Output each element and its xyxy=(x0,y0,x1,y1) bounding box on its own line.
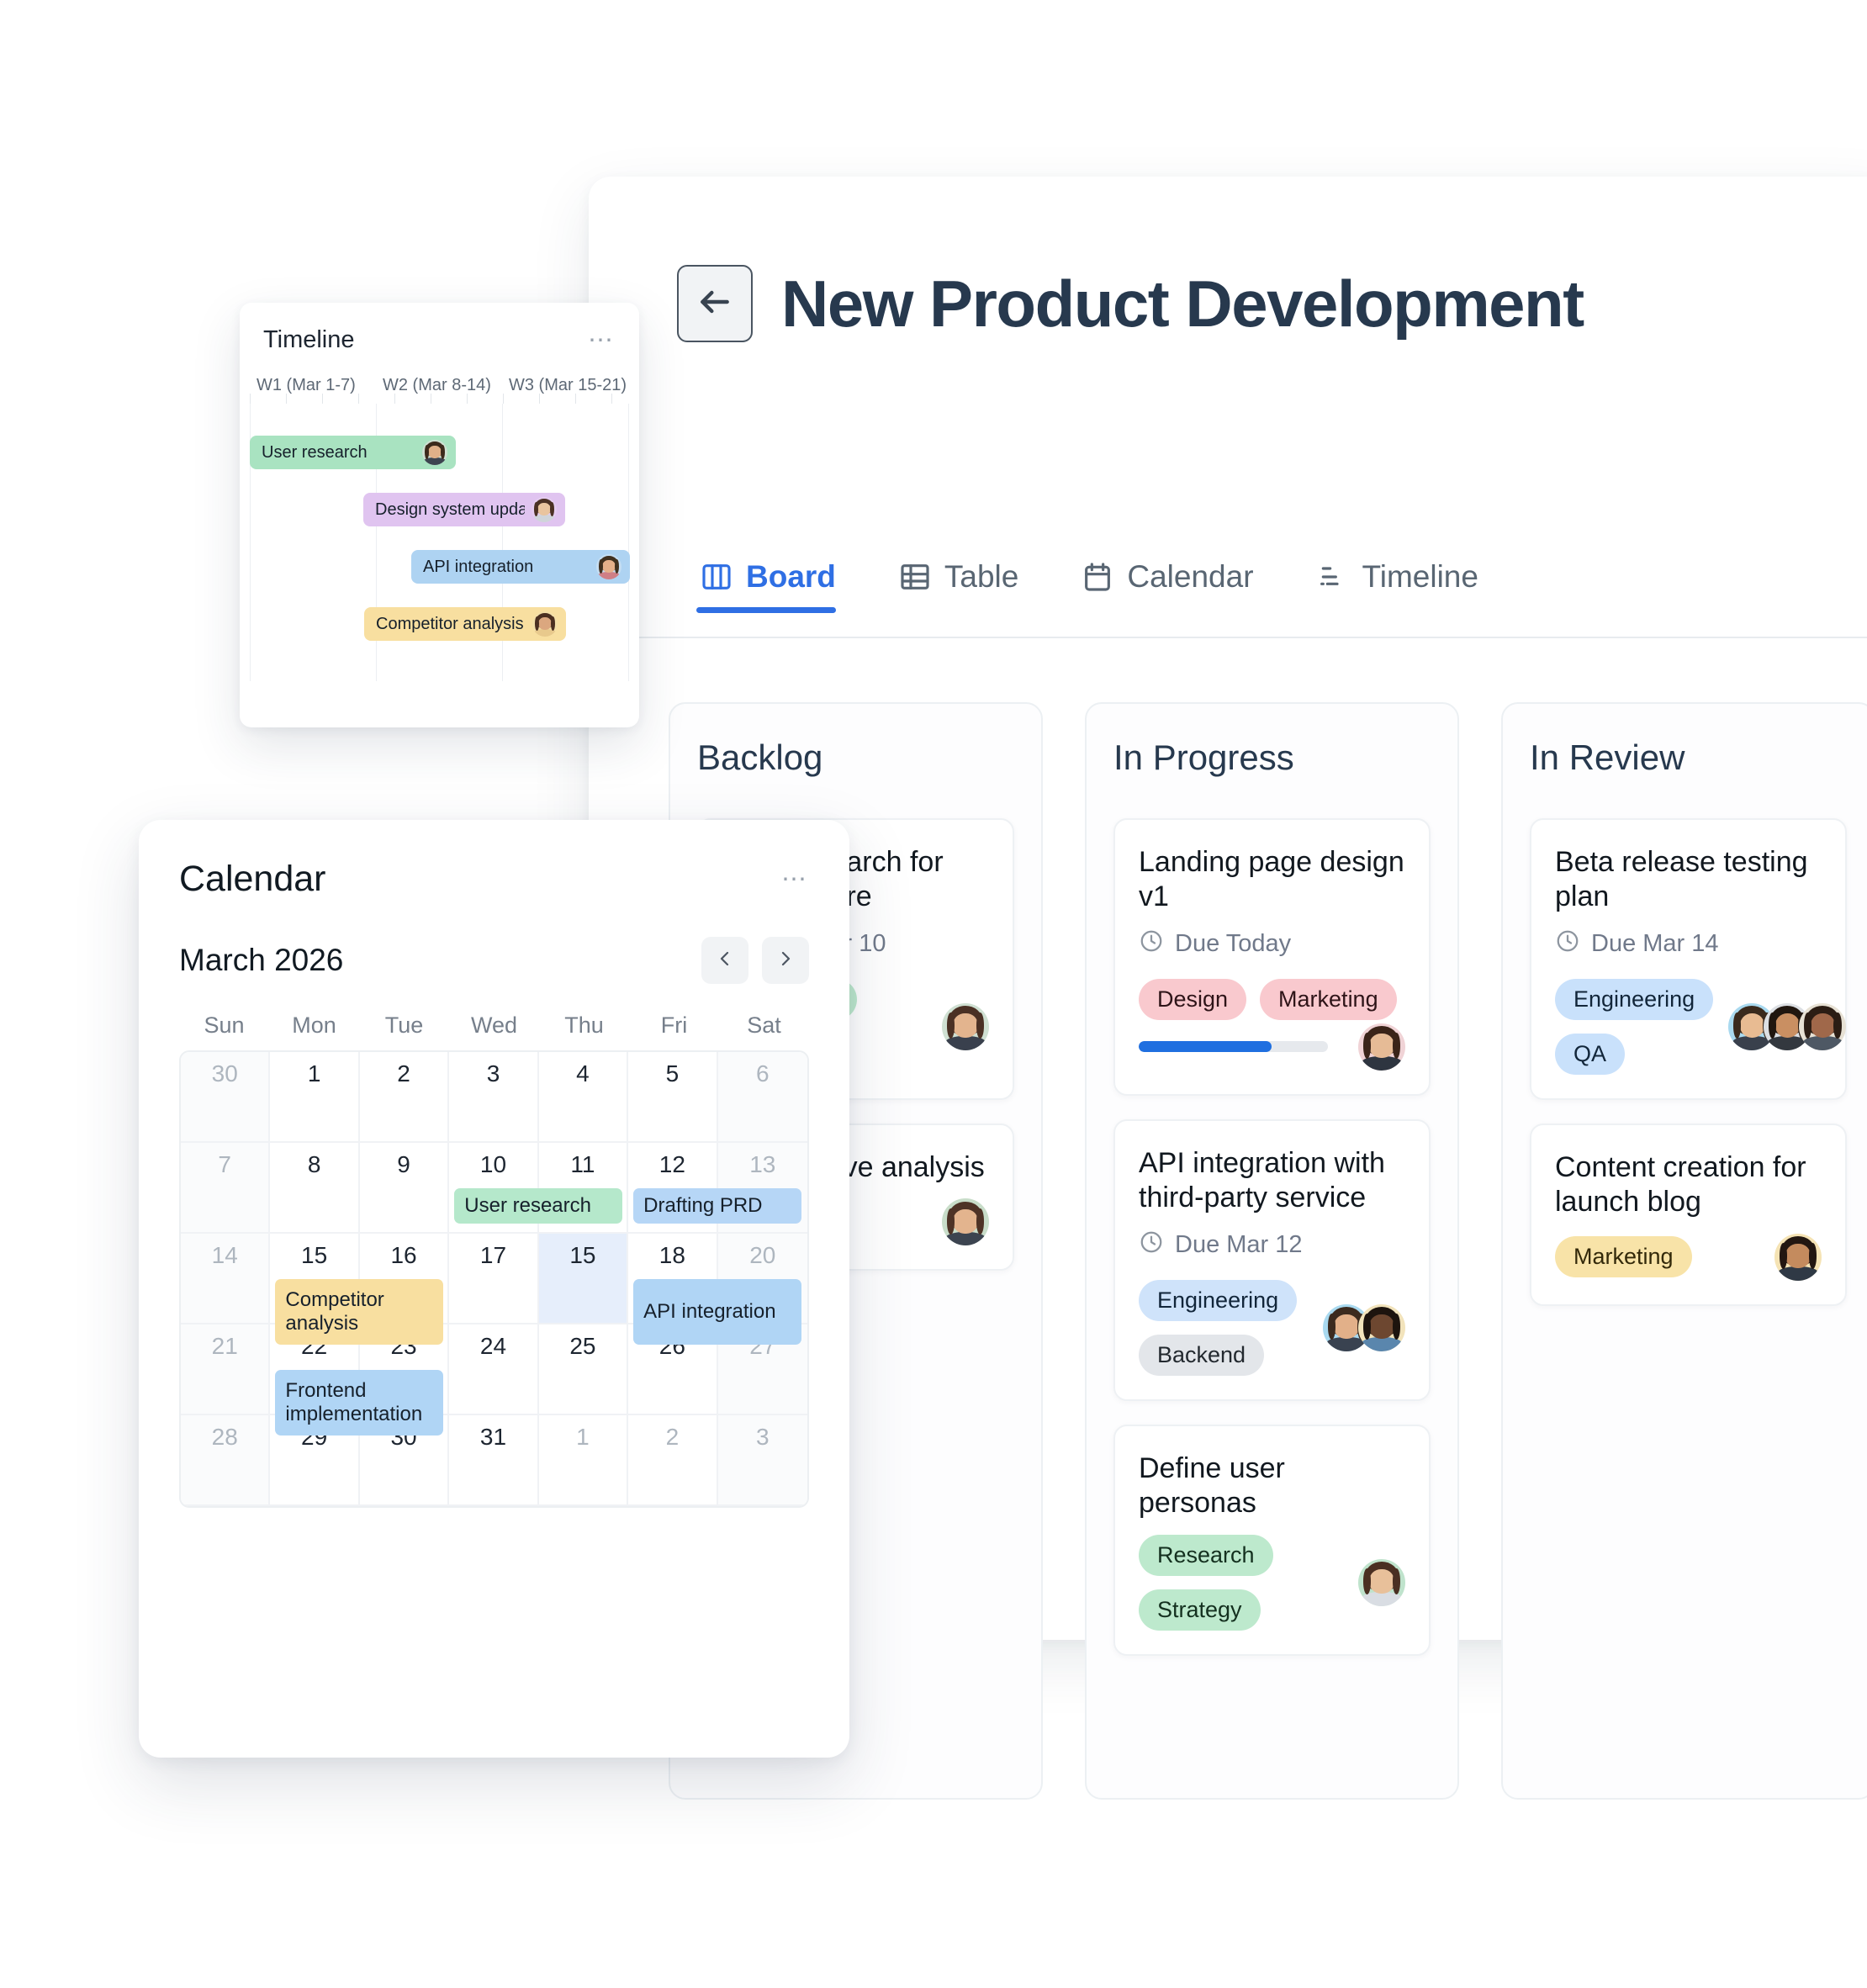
next-month-button[interactable] xyxy=(762,937,809,984)
view-tabs: Board Table Calendar Timeline xyxy=(696,559,1537,613)
calendar-day-cell[interactable]: 1 xyxy=(270,1052,359,1143)
calendar-day-cell[interactable]: 17 xyxy=(449,1234,538,1324)
tag[interactable]: Engineering xyxy=(1139,1280,1297,1321)
column-title: In Progress xyxy=(1113,738,1431,778)
calendar-day-cell[interactable]: 18API integration xyxy=(628,1234,717,1324)
weekday-label: Wed xyxy=(449,1013,539,1039)
timeline-bar-label: User research xyxy=(262,443,415,463)
day-number: 12 xyxy=(628,1151,716,1178)
card-due: Due Mar 12 xyxy=(1139,1229,1405,1261)
calendar-weekday-row: SunMonTueWedThuFriSat xyxy=(179,1013,809,1039)
calendar-day-cell[interactable]: 7 xyxy=(181,1143,270,1234)
calendar-day-cell[interactable]: 30 xyxy=(181,1052,270,1143)
screen: New Product Development Board Table Cale… xyxy=(0,0,1867,1988)
calendar-day-cell[interactable]: 3 xyxy=(718,1415,807,1506)
calendar-day-cell[interactable]: 8 xyxy=(270,1143,359,1234)
timeline-tick xyxy=(322,394,323,404)
day-number: 4 xyxy=(539,1060,627,1087)
tab-board[interactable]: Board xyxy=(696,559,863,613)
more-horizontal-icon[interactable]: ⋯ xyxy=(588,328,616,353)
tab-timeline[interactable]: Timeline xyxy=(1313,559,1505,613)
timeline-bar[interactable]: Competitor analysis xyxy=(364,607,566,641)
timeline-week-headers: W1 (Mar 1-7)W2 (Mar 8-14)W3 (Mar 15-21) xyxy=(240,376,639,395)
calendar-event[interactable]: Drafting PRD xyxy=(633,1188,801,1224)
day-number: 28 xyxy=(181,1424,268,1451)
card-due-label: Due Mar 12 xyxy=(1175,1231,1303,1259)
calendar-day-cell[interactable]: 12Drafting PRD xyxy=(628,1143,717,1234)
day-number: 24 xyxy=(449,1333,537,1360)
day-number: 20 xyxy=(718,1242,807,1269)
weekday-label: Tue xyxy=(359,1013,449,1039)
calendar-day-cell[interactable]: 2 xyxy=(628,1415,717,1506)
day-number: 1 xyxy=(270,1060,357,1087)
calendar-event[interactable]: API integration xyxy=(633,1279,801,1345)
board-header: New Product Development xyxy=(677,265,1584,342)
day-number: 14 xyxy=(181,1242,268,1269)
card-tags: ResearchStrategy xyxy=(1139,1535,1343,1631)
calendar-title: Calendar xyxy=(179,859,326,900)
calendar-grid: 30 1 2 3 4 5 6 7 8 9 10User research 11 … xyxy=(179,1050,809,1508)
clock-icon xyxy=(1555,928,1580,960)
column-title: Backlog xyxy=(697,738,1014,778)
timeline-week-label: W1 (Mar 1-7) xyxy=(250,376,376,395)
avatar xyxy=(532,611,558,637)
timeline-bar-label: Design system update xyxy=(375,500,525,520)
day-number: 7 xyxy=(181,1151,268,1178)
task-card[interactable]: Content creation for launch blog Marketi… xyxy=(1530,1124,1847,1306)
day-number: 3 xyxy=(718,1424,807,1451)
timeline-week-label: W2 (Mar 8-14) xyxy=(376,376,502,395)
task-card[interactable]: Beta release testing plan Due Mar 14 Eng… xyxy=(1530,818,1847,1100)
card-due: Due Mar 14 xyxy=(1555,928,1822,960)
back-button[interactable] xyxy=(677,265,753,342)
calendar-month-bar: March 2026 xyxy=(179,937,809,984)
weekday-label: Sun xyxy=(179,1013,269,1039)
task-card[interactable]: Define user personas ResearchStrategy xyxy=(1113,1425,1431,1656)
avatar xyxy=(942,1003,989,1050)
assignees[interactable] xyxy=(1323,1304,1405,1351)
card-tags: EngineeringQA xyxy=(1555,979,1713,1075)
day-number: 2 xyxy=(360,1060,447,1087)
avatar xyxy=(532,497,557,522)
chevron-right-icon xyxy=(775,949,796,973)
tag[interactable]: Engineering xyxy=(1555,979,1713,1020)
task-title: API integration with third-party service xyxy=(1139,1146,1405,1216)
day-number: 18 xyxy=(628,1242,716,1269)
day-number: 11 xyxy=(539,1151,627,1178)
task-title: Define user personas xyxy=(1139,1451,1405,1521)
card-tags: DesignMarketing xyxy=(1139,979,1405,1020)
tab-label: Board xyxy=(746,559,836,595)
calendar-day-cell[interactable]: 15 xyxy=(539,1234,628,1324)
calendar-day-cell[interactable]: 9 xyxy=(360,1143,449,1234)
table-icon xyxy=(898,560,932,594)
day-number: 15 xyxy=(270,1242,357,1269)
card-tags: EngineeringBackend xyxy=(1139,1280,1308,1376)
tab-label: Calendar xyxy=(1127,559,1253,595)
calendar-day-cell[interactable]: 10User research xyxy=(449,1143,538,1234)
card-footer: Marketing xyxy=(1555,1234,1822,1281)
day-number: 9 xyxy=(360,1151,447,1178)
day-number: 15 xyxy=(539,1242,627,1269)
card-due-label: Due Mar 14 xyxy=(1591,930,1719,958)
timeline-bar-label: API integration xyxy=(423,558,590,577)
calendar-month-label: March 2026 xyxy=(179,943,343,978)
day-number: 13 xyxy=(718,1151,807,1178)
avatar xyxy=(596,554,621,579)
calendar-day-cell[interactable]: 3 xyxy=(449,1052,538,1143)
timeline-tick xyxy=(611,394,612,404)
timeline-bar[interactable]: API integration xyxy=(411,550,630,584)
timeline-tick xyxy=(575,394,576,404)
calendar-day-cell[interactable]: 14 xyxy=(181,1234,270,1324)
timeline-header: Timeline ⋯ xyxy=(240,303,639,354)
day-number: 6 xyxy=(718,1060,807,1087)
card-due: Due Today xyxy=(1139,928,1405,960)
timeline-tick xyxy=(286,394,287,404)
day-number: 5 xyxy=(628,1060,716,1087)
task-card[interactable]: API integration with third-party service… xyxy=(1113,1119,1431,1401)
progress-bar xyxy=(1139,1041,1328,1052)
day-number: 2 xyxy=(628,1424,716,1451)
timeline-tick xyxy=(467,394,468,404)
card-footer: EngineeringBackend xyxy=(1139,1280,1405,1376)
avatar xyxy=(1799,1003,1846,1050)
calendar-day-cell[interactable]: 6 xyxy=(718,1052,807,1143)
tab-table[interactable]: Table xyxy=(895,559,1045,613)
timeline-tick xyxy=(250,394,251,404)
timeline-icon xyxy=(1316,560,1350,594)
tag[interactable]: Design xyxy=(1139,979,1246,1020)
card-footer xyxy=(1139,1023,1405,1071)
tag[interactable]: Backend xyxy=(1139,1335,1264,1376)
avatar xyxy=(942,1198,989,1245)
calendar-day-cell[interactable]: 1 xyxy=(539,1415,628,1506)
column-in-progress: In Progress Landing page design v1 Due T… xyxy=(1085,702,1459,1800)
weekday-label: Fri xyxy=(629,1013,719,1039)
tag[interactable]: Research xyxy=(1139,1535,1273,1576)
timeline-tick xyxy=(358,394,359,404)
calendar-header: Calendar ⋯ xyxy=(179,859,809,900)
card-tags: Marketing xyxy=(1555,1236,1759,1277)
day-number: 16 xyxy=(360,1242,447,1269)
avatar xyxy=(1358,1023,1405,1071)
timeline-gridline xyxy=(628,404,629,681)
card-due-label: Due Today xyxy=(1175,930,1291,958)
day-number: 8 xyxy=(270,1151,357,1178)
calendar-day-cell[interactable]: 28 xyxy=(181,1415,270,1506)
calendar-event[interactable]: Frontend implementation xyxy=(275,1370,443,1435)
day-number: 17 xyxy=(449,1242,537,1269)
avatar xyxy=(1358,1559,1405,1606)
calendar-day-cell[interactable]: 21 xyxy=(181,1324,270,1415)
timeline-tick xyxy=(539,394,540,404)
day-number: 3 xyxy=(449,1060,537,1087)
calendar-day-cell[interactable]: 31 xyxy=(449,1415,538,1506)
column-in-review: In Review Beta release testing plan Due … xyxy=(1501,702,1867,1800)
avatar xyxy=(1774,1234,1822,1281)
timeline-week-label: W3 (Mar 15-21) xyxy=(502,376,628,395)
tab-label: Timeline xyxy=(1362,559,1478,595)
day-number: 21 xyxy=(181,1333,268,1360)
tag[interactable]: Marketing xyxy=(1260,979,1397,1020)
arrow-left-icon xyxy=(696,283,733,325)
calendar-day-cell[interactable]: 2 xyxy=(360,1052,449,1143)
calendar-day-cell[interactable]: 4 xyxy=(539,1052,628,1143)
day-number: 31 xyxy=(449,1424,537,1451)
calendar-event[interactable]: Competitor analysis xyxy=(275,1279,443,1345)
clock-icon xyxy=(1139,1229,1164,1261)
tag[interactable]: QA xyxy=(1555,1034,1625,1075)
timeline-tick xyxy=(394,394,395,404)
assignees[interactable] xyxy=(1728,1003,1846,1050)
timeline-widget: Timeline ⋯ W1 (Mar 1-7)W2 (Mar 8-14)W3 (… xyxy=(240,303,639,727)
weekday-label: Thu xyxy=(539,1013,629,1039)
column-title: In Review xyxy=(1530,738,1847,778)
assignees[interactable] xyxy=(942,1003,989,1050)
calendar-widget: Calendar ⋯ March 2026 SunMonTueWedThuFri… xyxy=(139,820,849,1758)
timeline-bar-label: Competitor analysis xyxy=(376,615,526,634)
day-number: 30 xyxy=(181,1060,268,1087)
calendar-icon xyxy=(1081,560,1114,594)
timeline-tick xyxy=(431,394,431,404)
chevron-left-icon xyxy=(715,949,735,973)
calendar-day-cell[interactable]: 24 xyxy=(449,1324,538,1415)
avatar xyxy=(422,440,447,465)
task-card[interactable]: Landing page design v1 Due TodayDesignMa… xyxy=(1113,818,1431,1096)
page-title: New Product Development xyxy=(781,266,1584,342)
timeline-bar[interactable]: Design system update xyxy=(363,493,565,526)
task-title: Landing page design v1 xyxy=(1139,845,1405,915)
more-horizontal-icon[interactable]: ⋯ xyxy=(781,867,809,892)
clock-icon xyxy=(1139,928,1164,960)
assignees[interactable] xyxy=(1774,1234,1822,1281)
day-number: 1 xyxy=(539,1424,627,1451)
timeline-tick xyxy=(503,394,504,404)
board-icon xyxy=(700,560,733,594)
assignees[interactable] xyxy=(942,1198,989,1245)
calendar-day-cell[interactable]: 5 xyxy=(628,1052,717,1143)
timeline-bar[interactable]: User research xyxy=(250,436,456,469)
timeline-grid: User research Design system update API i… xyxy=(240,404,639,681)
tab-calendar[interactable]: Calendar xyxy=(1077,559,1280,613)
calendar-day-cell[interactable]: 15Competitor analysis xyxy=(270,1234,359,1324)
weekday-label: Sat xyxy=(719,1013,809,1039)
card-footer: EngineeringQA xyxy=(1555,979,1822,1075)
calendar-event[interactable]: User research xyxy=(454,1188,622,1224)
assignees[interactable] xyxy=(1358,1559,1405,1606)
calendar-nav xyxy=(701,937,809,984)
day-number: 10 xyxy=(449,1151,537,1178)
weekday-label: Mon xyxy=(269,1013,359,1039)
card-footer: ResearchStrategy xyxy=(1139,1535,1405,1631)
day-number: 25 xyxy=(539,1333,627,1360)
timeline-title: Timeline xyxy=(263,326,355,354)
tag[interactable]: Marketing xyxy=(1555,1236,1692,1277)
tabs-divider xyxy=(589,637,1867,638)
task-title: Beta release testing plan xyxy=(1555,845,1822,915)
calendar-day-cell[interactable]: 25 xyxy=(539,1324,628,1415)
avatar xyxy=(1358,1304,1405,1351)
task-title: Content creation for launch blog xyxy=(1555,1150,1822,1220)
prev-month-button[interactable] xyxy=(701,937,748,984)
tab-label: Table xyxy=(944,559,1018,595)
assignees[interactable] xyxy=(1358,1023,1405,1071)
tag[interactable]: Strategy xyxy=(1139,1589,1261,1631)
